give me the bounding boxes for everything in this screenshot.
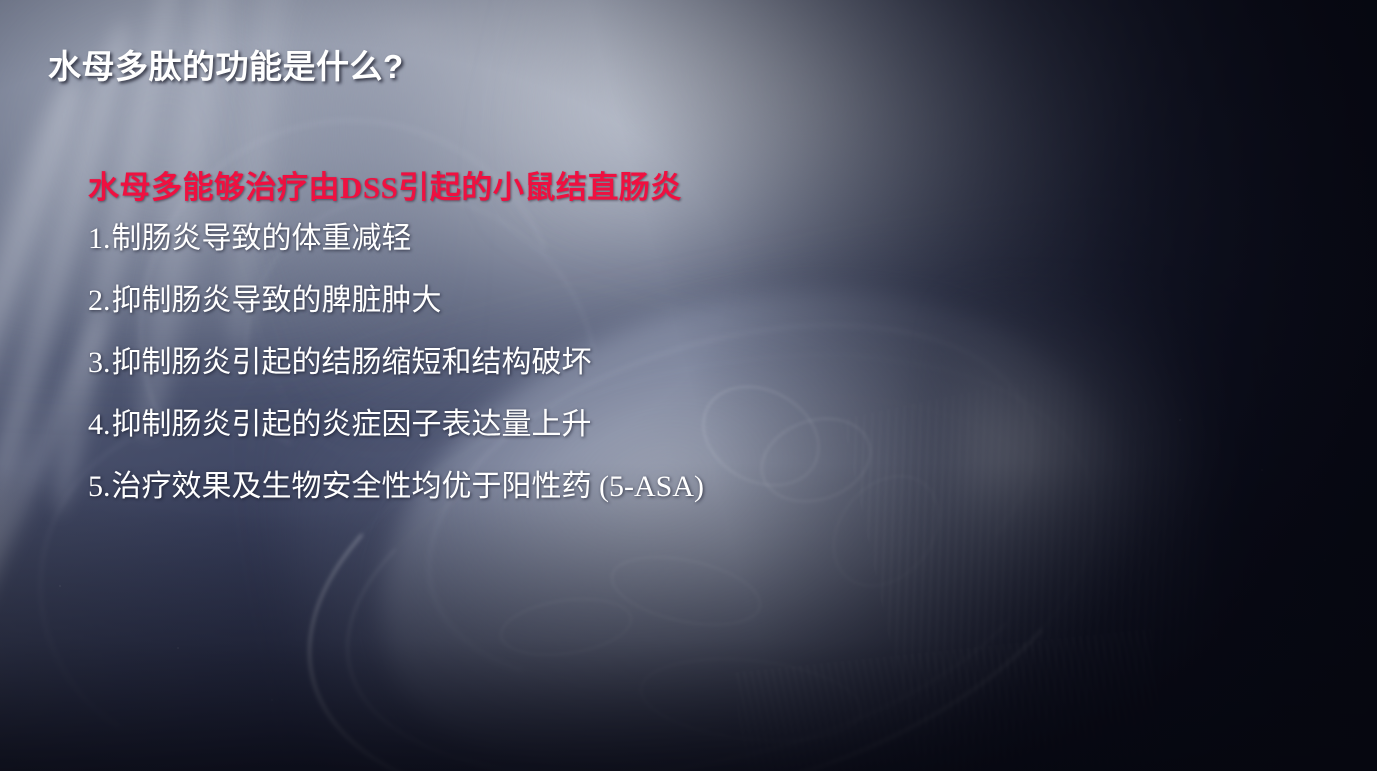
slide-title: 水母多肽的功能是什么? (48, 40, 404, 88)
list-item: 4. 抑制肠炎引起的炎症因子表达量上升 (88, 394, 1188, 456)
list-item-number: 5. (88, 456, 111, 518)
list-item-number: 3. (88, 332, 111, 394)
list-item-label: 抑制肠炎引起的结肠缩短和结构破坏 (112, 332, 592, 394)
list-item-label: 制肠炎导致的体重减轻 (112, 208, 412, 270)
slide-body: 水母多能够治疗由DSS引起的小鼠结直肠炎 1. 制肠炎导致的体重减轻 2. 抑制… (88, 168, 1188, 518)
numbered-list: 1. 制肠炎导致的体重减轻 2. 抑制肠炎导致的脾脏肿大 3. 抑制肠炎引起的结… (88, 208, 1188, 518)
list-item-label: 抑制肠炎导致的脾脏肿大 (112, 270, 442, 332)
list-item-label: 治疗效果及生物安全性均优于阳性药 (5-ASA) (112, 456, 705, 518)
list-item-number: 1. (88, 208, 111, 270)
presentation-slide: 水母多肽的功能是什么? 水母多能够治疗由DSS引起的小鼠结直肠炎 1. 制肠炎导… (0, 0, 1377, 771)
list-item-number: 4. (88, 394, 111, 456)
slide-content: 水母多肽的功能是什么? 水母多能够治疗由DSS引起的小鼠结直肠炎 1. 制肠炎导… (0, 0, 1377, 771)
list-item: 3. 抑制肠炎引起的结肠缩短和结构破坏 (88, 332, 1188, 394)
section-headline: 水母多能够治疗由DSS引起的小鼠结直肠炎 (88, 168, 1188, 208)
list-item: 2. 抑制肠炎导致的脾脏肿大 (88, 270, 1188, 332)
list-item: 1. 制肠炎导致的体重减轻 (88, 208, 1188, 270)
list-item-label: 抑制肠炎引起的炎症因子表达量上升 (112, 394, 592, 456)
list-item-number: 2. (88, 270, 111, 332)
list-item: 5. 治疗效果及生物安全性均优于阳性药 (5-ASA) (88, 456, 1188, 518)
